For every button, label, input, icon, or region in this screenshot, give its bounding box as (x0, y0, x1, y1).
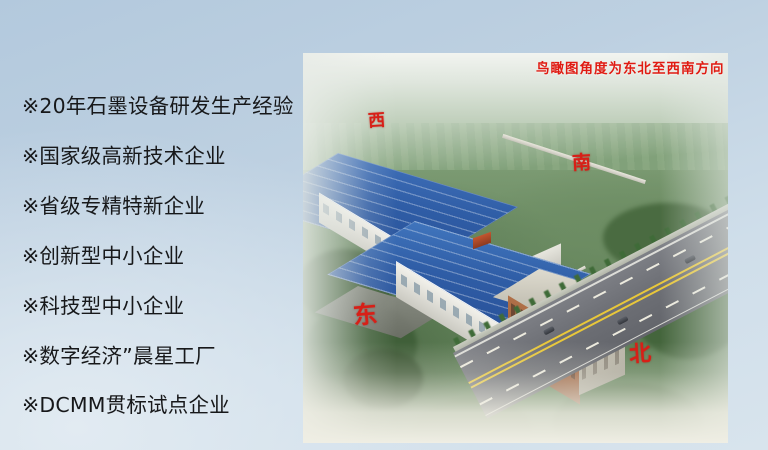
direction-mark-west: 西 (367, 105, 386, 131)
photo-caption: 鸟瞰图角度为东北至西南方向 (536, 53, 736, 81)
direction-mark-north: 北 (628, 335, 652, 368)
car (617, 316, 629, 326)
list-item: ※20年石墨设备研发生产经验 (22, 96, 300, 117)
fog-overlay-bottom (303, 342, 728, 443)
list-item: ※国家级高新技术企业 (22, 146, 300, 167)
car (543, 326, 555, 336)
list-item: ※创新型中小企业 (22, 246, 300, 267)
direction-mark-east: 东 (352, 294, 379, 331)
company-credentials-list: ※20年石墨设备研发生产经验 ※国家级高新技术企业 ※省级专精特新企业 ※创新型… (0, 96, 300, 416)
list-item: ※省级专精特新企业 (22, 196, 300, 217)
list-item: ※科技型中小企业 (22, 296, 300, 317)
list-item: ※数字经济”晨星工厂 (22, 346, 300, 367)
list-item: ※DCMM贯标试点企业 (22, 395, 300, 416)
direction-mark-south: 南 (571, 148, 591, 176)
